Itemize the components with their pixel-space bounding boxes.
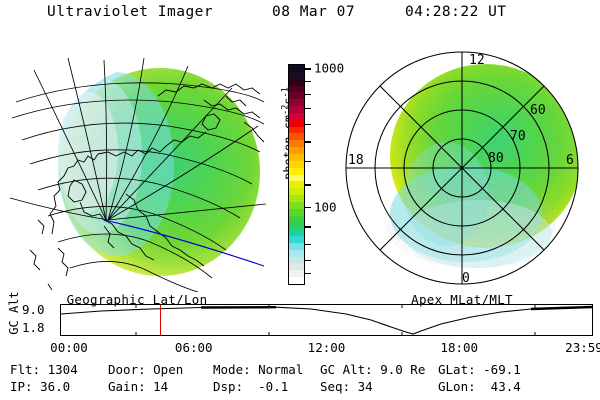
mlt-label-6: 6 xyxy=(566,153,574,168)
colorbar-segment xyxy=(289,243,304,250)
uvi-display: Ultraviolet Imager 08 Mar 07 04:28:22 UT xyxy=(0,0,600,400)
gc-altitude-tick-low: 1.8 xyxy=(22,320,45,335)
colorbar-tick xyxy=(305,226,311,227)
colorbar-segment xyxy=(289,168,304,175)
colorbar-segment xyxy=(289,161,304,168)
colorbar-segment xyxy=(289,202,304,209)
colorbar-segment xyxy=(289,79,304,86)
colorbar-segment xyxy=(289,140,304,147)
status-field: Mode: Normal xyxy=(213,362,303,377)
status-row: IP: 36.0Gain: 14Dsp: -0.1Seq: 34GLon: 43… xyxy=(0,379,600,397)
time-axis-label: 18:00 xyxy=(440,340,478,355)
status-field: Dsp: -0.1 xyxy=(213,379,288,394)
colorbar-segment xyxy=(289,270,304,277)
status-field: Flt: 1304 xyxy=(10,362,78,377)
time-axis: 00:0006:0012:0018:0023:59 xyxy=(0,340,600,358)
apex-plot-svg: 12 18 6 0 60 70 80 xyxy=(338,44,586,292)
apex-mlat-mlt-plot[interactable]: 12 18 6 0 60 70 80 xyxy=(338,44,586,292)
mlt-label-0: 0 xyxy=(462,271,470,286)
colorbar-segment xyxy=(289,106,304,113)
gc-altitude-tick-high: 9.0 xyxy=(22,302,45,317)
colorbar-segment xyxy=(289,181,304,188)
colorbar-tick xyxy=(305,184,311,185)
colorbar-segment xyxy=(289,175,304,182)
colorbar-segment xyxy=(289,99,304,106)
colorbar-segment xyxy=(289,65,304,72)
colorbar-segment xyxy=(289,147,304,154)
status-field: Door: Open xyxy=(108,362,183,377)
geographic-polar-plot[interactable] xyxy=(8,44,266,292)
observation-date: 08 Mar 07 xyxy=(272,4,355,20)
status-field: IP: 36.0 xyxy=(10,379,70,394)
time-cursor[interactable] xyxy=(160,305,161,335)
gc-altitude-trace-svg xyxy=(61,305,592,335)
colorbar-tick xyxy=(305,260,311,261)
mlat-label-70: 70 xyxy=(510,129,526,144)
colorbar-tick xyxy=(305,141,311,142)
time-axis-label: 06:00 xyxy=(175,340,213,355)
status-field: GC Alt: 9.0 Re xyxy=(320,362,425,377)
colorbar-tick xyxy=(305,273,311,274)
colorbar-segment xyxy=(289,263,304,270)
colorbar-tick-label: 100 xyxy=(314,199,337,214)
colorbar-tick xyxy=(305,124,311,125)
colorbar-segment xyxy=(289,92,304,99)
gc-altitude-strip[interactable]: GC Alt 9.0 1.8 xyxy=(0,300,600,338)
colorbar-tick xyxy=(305,81,311,82)
colorbar-segment xyxy=(289,229,304,236)
mlt-spokes xyxy=(346,52,578,284)
colorbar-segment xyxy=(289,257,304,264)
time-axis-label: 00:00 xyxy=(50,340,88,355)
colorbar-segment xyxy=(289,72,304,79)
colorbar-segment xyxy=(289,216,304,223)
colorbar-tick xyxy=(305,244,311,245)
status-field: GLat: -69.1 xyxy=(438,362,521,377)
colorbar-tick xyxy=(305,207,311,208)
colorbar-segment xyxy=(289,277,304,284)
colorbar-segment xyxy=(289,209,304,216)
colorbar-segment xyxy=(289,154,304,161)
status-field: Gain: 14 xyxy=(108,379,168,394)
status-field: GLon: 43.4 xyxy=(438,379,521,394)
colorbar-segment xyxy=(289,127,304,134)
gc-altitude-ylabel: GC Alt xyxy=(7,283,21,343)
time-axis-label: 23:59 xyxy=(565,340,600,355)
colorbar-segment xyxy=(289,120,304,127)
colorbar-segment xyxy=(289,222,304,229)
colorbar-tick xyxy=(305,68,311,69)
mlat-label-60: 60 xyxy=(530,103,546,118)
colorbar: photon cm-2s-1 1000100 xyxy=(266,58,336,293)
colorbar-segment xyxy=(289,86,304,93)
colorbar-segment xyxy=(289,236,304,243)
colorbar-segment xyxy=(289,195,304,202)
status-row: Flt: 1304Door: OpenMode: NormalGC Alt: 9… xyxy=(0,362,600,380)
status-field: Seq: 34 xyxy=(320,379,373,394)
colorbar-segment xyxy=(289,188,304,195)
colorbar-segment xyxy=(289,133,304,140)
colorbar-tick xyxy=(305,94,311,95)
mlt-label-12: 12 xyxy=(469,53,485,68)
gc-altitude-plot-area[interactable] xyxy=(60,304,593,336)
colorbar-tick xyxy=(305,108,311,109)
colorbar-segment xyxy=(289,250,304,257)
instrument-title: Ultraviolet Imager xyxy=(47,4,213,20)
status-block: Flt: 1304Door: OpenMode: NormalGC Alt: 9… xyxy=(0,362,600,400)
altitude-trace xyxy=(61,307,592,334)
colorbar-tick xyxy=(305,161,311,162)
header: Ultraviolet Imager 08 Mar 07 04:28:22 UT xyxy=(0,4,600,28)
colorbar-segment xyxy=(289,113,304,120)
time-axis-label: 12:00 xyxy=(308,340,346,355)
mlat-label-80: 80 xyxy=(488,151,504,166)
observation-time: 04:28:22 UT xyxy=(405,4,507,20)
colorbar-gradient xyxy=(288,64,305,285)
geographic-plot-svg xyxy=(8,44,266,292)
mlt-label-18: 18 xyxy=(348,153,364,168)
